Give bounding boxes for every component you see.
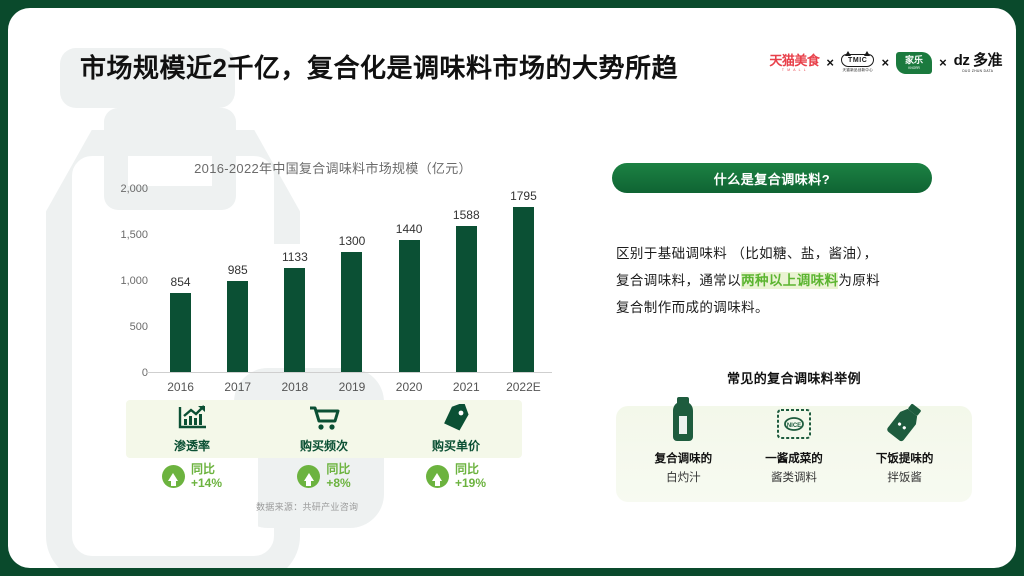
- definition-banner: 什么是复合调味料?: [612, 163, 932, 193]
- market-size-bar-chart: 2016-2022年中国复合调味料市场规模（亿元） 2,0001,5001,00…: [108, 158, 558, 398]
- chart-bar-group: 1440: [381, 189, 438, 372]
- chart-y-tick: 1,500: [120, 229, 148, 241]
- chart-bar-value: 1300: [339, 234, 366, 248]
- tmall-logo-name: 天猫美食: [769, 54, 819, 67]
- chart-bar: [399, 240, 420, 372]
- kpi-value: +8%: [326, 477, 350, 491]
- slide-card: 市场规模近2千亿，复合化是调味料市场的大势所趋 天猫美食 T M A L L ×…: [8, 8, 1016, 568]
- chart-x-tick: 2018: [266, 380, 323, 394]
- chart-x-tick: 2020: [381, 380, 438, 394]
- chart-bar: [456, 226, 477, 372]
- chart-plot-area: 2,0001,5001,0005000 85498511331300144015…: [152, 189, 552, 373]
- chart-bar-group: 854: [152, 189, 209, 372]
- example-line-2: 白灼汁: [666, 469, 701, 485]
- kpi-card-frequency: 购买频次 同比 +8%: [258, 404, 390, 491]
- example-line-1: 一酱成菜的: [765, 450, 823, 466]
- up-arrow-icon: [297, 465, 320, 488]
- chart-bar-value: 1440: [396, 222, 423, 236]
- chart-bar-value: 1133: [282, 250, 308, 264]
- kpi-yoy-label: 同比: [326, 463, 350, 477]
- chart-bar-group: 1795: [495, 189, 552, 372]
- definition-line-2: 复合调味料，通常以两种以上调味料为原料: [616, 267, 946, 294]
- price-tag-icon: [441, 404, 471, 432]
- kpi-card-penetration: 渗透率 同比 +14%: [126, 404, 258, 491]
- chart-bar-group: 1300: [323, 189, 380, 372]
- kpi-delta: 同比 +19%: [426, 463, 486, 491]
- chart-x-tick: 2016: [152, 380, 209, 394]
- chart-y-tick: 0: [142, 367, 148, 379]
- kpi-value: +19%: [455, 477, 486, 491]
- up-arrow-icon: [426, 465, 449, 488]
- chart-bar: [227, 281, 248, 372]
- chart-bar: [170, 293, 191, 372]
- svg-text:NICE: NICE: [787, 423, 801, 429]
- tmall-logo-sub: T M A L L: [782, 69, 807, 72]
- chart-bar-group: 1588: [438, 189, 495, 372]
- kpi-delta: 同比 +14%: [162, 463, 222, 491]
- definition-body: 区别于基础调味料 （比如糖、盐，酱油）， 复合调味料，通常以两种以上调味料为原料…: [616, 240, 946, 321]
- example-line-1: 下饭提味的: [876, 450, 934, 466]
- tmic-logo: TMIC 天猫新品创新中心: [841, 54, 875, 73]
- dz-logo: dz 多准 DUO ZHUN DATA: [954, 53, 1002, 73]
- example-item-2: NICE 一酱成菜的 酱类调料: [739, 396, 850, 485]
- logo-separator-x-2: ×: [881, 55, 889, 70]
- kpi-label: 购买频次: [300, 437, 348, 454]
- kpi-yoy-label: 同比: [455, 463, 486, 477]
- dz-logo-sub: DUO ZHUN DATA: [962, 70, 993, 73]
- definition-line-1: 区别于基础调味料 （比如糖、盐，酱油），: [616, 240, 946, 267]
- kpi-value: +14%: [191, 477, 222, 491]
- chart-y-axis: 2,0001,5001,0005000: [106, 189, 148, 373]
- up-arrow-icon: [162, 465, 185, 488]
- data-source-note: 数据来源：共研产业咨询: [256, 500, 358, 513]
- shopping-cart-icon: [308, 404, 340, 432]
- chart-bar: [284, 268, 305, 372]
- logo-separator-x-1: ×: [826, 55, 834, 70]
- knorr-logo-sub: KNORR: [908, 67, 920, 70]
- chart-bar-value: 854: [171, 275, 191, 289]
- kpi-label: 渗透率: [174, 437, 210, 454]
- chart-x-tick: 2019: [323, 380, 380, 394]
- tmall-logo: 天猫美食 T M A L L: [769, 54, 819, 72]
- logo-separator-x-3: ×: [939, 55, 947, 70]
- chart-x-tick: 2022E: [495, 380, 552, 394]
- sauce-packet-icon: NICE: [774, 396, 814, 442]
- chart-baseline: [146, 372, 552, 373]
- examples-list: 复合调味的 白灼汁 NICE 一酱成菜的 酱类调料: [628, 396, 960, 485]
- chart-growth-icon: [177, 404, 207, 432]
- tmic-logo-name: TMIC: [841, 54, 875, 67]
- knorr-logo-name: 家乐: [905, 56, 923, 65]
- chart-title: 2016-2022年中国复合调味料市场规模（亿元）: [108, 158, 558, 177]
- example-item-1: 复合调味的 白灼汁: [628, 396, 739, 485]
- chart-x-tick: 2017: [209, 380, 266, 394]
- chart-bar-group: 985: [209, 189, 266, 372]
- chart-bar: [341, 252, 362, 372]
- slide-frame: 市场规模近2千亿，复合化是调味料市场的大势所趋 天猫美食 T M A L L ×…: [0, 0, 1024, 576]
- chart-bar-value: 1588: [453, 208, 480, 222]
- definition-line-3: 复合制作而成的调味料。: [616, 294, 946, 321]
- chart-x-tick: 2021: [438, 380, 495, 394]
- dz-logo-name: dz 多准: [954, 53, 1002, 68]
- example-line-2: 酱类调料: [771, 469, 817, 485]
- chart-bar-group: 1133: [266, 189, 323, 372]
- kpi-delta: 同比 +8%: [297, 463, 350, 491]
- tmic-logo-sub: 天猫新品创新中心: [843, 69, 873, 73]
- chart-bar: [513, 207, 534, 372]
- example-line-1: 复合调味的: [655, 450, 713, 466]
- kpi-yoy-label: 同比: [191, 463, 222, 477]
- kpi-panel: 渗透率 同比 +14% 购买频次: [126, 404, 522, 491]
- example-item-3: 下饭提味的 拌饭酱: [849, 396, 960, 485]
- chart-y-tick: 1,000: [120, 275, 148, 287]
- kpi-label: 购买单价: [432, 437, 480, 454]
- chart-y-tick: 2,000: [120, 183, 148, 195]
- kpi-card-unit-price: 购买单价 同比 +19%: [390, 404, 522, 491]
- chart-bar-value: 1795: [510, 189, 537, 203]
- chart-y-tick: 500: [130, 321, 148, 333]
- sauce-jar-icon: [884, 396, 926, 442]
- sauce-bottle-icon: [670, 396, 696, 442]
- knorr-logo: 家乐 KNORR: [896, 52, 932, 74]
- page-title: 市场规模近2千亿，复合化是调味料市场的大势所趋: [80, 48, 678, 85]
- partner-logo-bar: 天猫美食 T M A L L × TMIC 天猫新品创新中心 × 家乐 KNOR…: [769, 52, 1002, 74]
- highlight-phrase: 两种以上调味料: [741, 272, 838, 289]
- chart-x-axis: 2016201720182019202020212022E: [152, 380, 552, 394]
- examples-title: 常见的复合调味料举例: [616, 368, 972, 387]
- chart-bar-value: 985: [228, 263, 248, 277]
- example-line-2: 拌饭酱: [887, 469, 922, 485]
- chart-bars: 85498511331300144015881795: [152, 189, 552, 372]
